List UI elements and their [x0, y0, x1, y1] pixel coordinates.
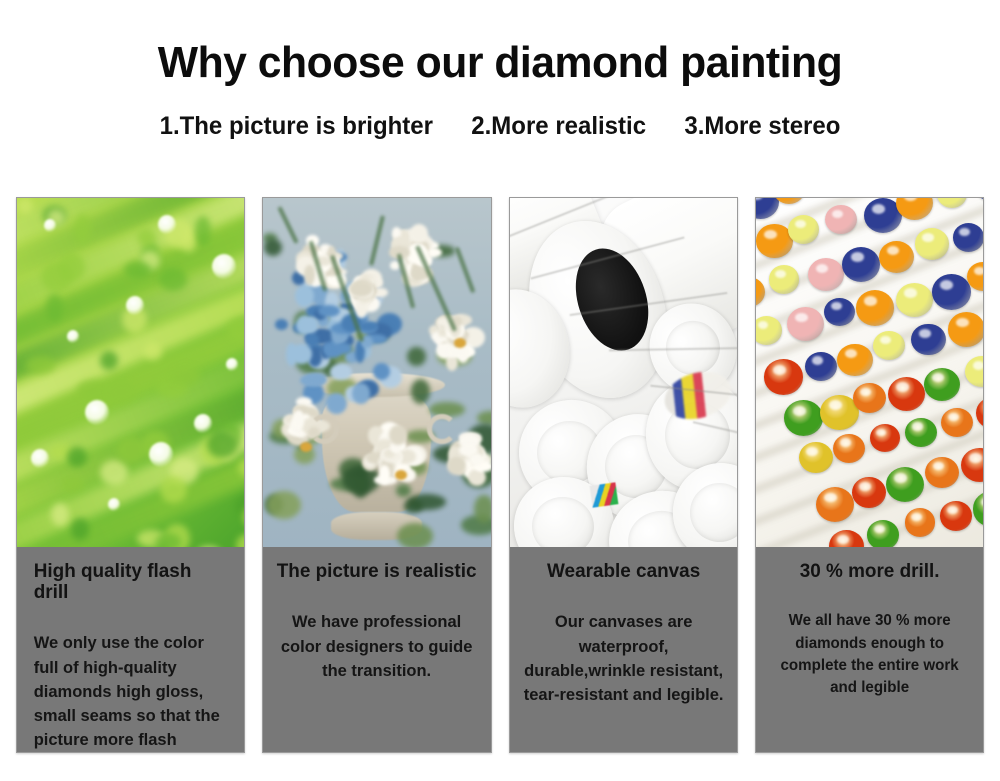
drill-bead [808, 258, 844, 291]
drill-bead [108, 380, 135, 404]
foliage-dab [474, 495, 490, 523]
panel-body: We only use the color full of high-quali… [25, 631, 230, 752]
drill-sparkle [44, 219, 56, 232]
feature-panel-more-drill: 30 % more drill. We all have 30 % more d… [755, 197, 984, 753]
blue-flower-dab [291, 344, 311, 364]
panel-body: Our canvases are waterproof, durable,wri… [521, 610, 726, 707]
drill-bead [756, 316, 783, 345]
drill-bead [172, 366, 200, 386]
cmyk-print-mark [590, 482, 619, 507]
panel-caption: High quality flash drill We only use the… [17, 547, 244, 753]
drill-bead [46, 294, 62, 322]
drill-bead [867, 520, 899, 547]
drill-bead [905, 418, 936, 447]
drill-bead [61, 476, 84, 494]
drill-bead [837, 344, 873, 377]
urn-scroll-handle [309, 414, 339, 444]
drill-bead [58, 253, 85, 282]
drill-bead [870, 424, 900, 452]
drill-bead [144, 343, 161, 360]
panel-title: Wearable canvas [521, 561, 726, 582]
white-flower-dab [389, 425, 407, 445]
drill-bead [769, 265, 800, 294]
panel-title: High quality flash drill [25, 561, 230, 604]
drill-bead [756, 198, 779, 219]
panel-body: We have professional color designers to … [274, 610, 479, 682]
foliage-dab [264, 239, 282, 256]
panel-title: The picture is realistic [274, 561, 479, 582]
drill-bead [879, 241, 914, 273]
foliage-dab [396, 484, 411, 498]
drill-bead [941, 408, 973, 437]
drill-bead [137, 229, 156, 247]
white-flower-dab [410, 224, 428, 243]
panel-caption: Wearable canvas Our canvases are waterpr… [510, 547, 737, 752]
page-title: Why choose our diamond painting [15, 38, 985, 88]
drill-bead [236, 533, 244, 547]
rolled-canvas-tubes-image [510, 198, 737, 547]
blue-flower-dab [295, 285, 314, 307]
foliage-dab [477, 411, 490, 425]
feature-item-3: 3.More stereo [684, 112, 840, 141]
drill-bead [888, 377, 926, 412]
white-flower-dab [459, 444, 477, 455]
stem [455, 247, 475, 293]
feature-panels: High quality flash drill We only use the… [16, 197, 984, 753]
foliage-dab [411, 379, 430, 404]
drill-bead [937, 198, 967, 208]
white-flower-dab [448, 347, 469, 357]
foliage-dab [407, 494, 446, 510]
drill-bead [853, 383, 885, 413]
white-flower-dab [349, 281, 372, 297]
panel-title: 30 % more drill. [767, 561, 972, 582]
drill-bead [207, 431, 238, 458]
drill-bead [833, 434, 865, 464]
drill-bead [67, 447, 87, 467]
green-flash-drills-closeup-image [17, 198, 244, 547]
drill-bead [911, 324, 945, 356]
panel-caption: The picture is realistic We have profess… [263, 547, 490, 752]
drill-bead [17, 198, 33, 214]
blue-flower-dab [275, 319, 288, 330]
foliage-dab [397, 523, 433, 547]
drill-sparkle [108, 498, 120, 511]
drill-bead [816, 487, 854, 522]
foliage-dab [267, 491, 301, 519]
drill-bead [764, 359, 802, 394]
drill-bead [896, 283, 933, 317]
daisy-center [300, 442, 312, 452]
feature-panel-quality: High quality flash drill We only use the… [16, 197, 245, 753]
drill-bead [160, 476, 187, 502]
white-flower-dab [304, 265, 315, 285]
stem [369, 215, 385, 266]
drill-bead [196, 546, 221, 547]
panel-body: We all have 30 % more diamonds enough to… [767, 610, 972, 699]
drill-bead [71, 518, 89, 541]
drill-bead [842, 247, 880, 282]
foliage-dab [407, 347, 426, 366]
product-feature-banner: Why choose our diamond painting 1.The pi… [0, 0, 1000, 781]
blue-flower-dab [305, 317, 317, 333]
floral-painting-vase-image [263, 198, 490, 547]
drill-bead [852, 477, 885, 508]
drill-bead [924, 368, 960, 401]
drill-bead [940, 501, 972, 530]
drill-bead [953, 223, 983, 252]
drill-bead [756, 224, 792, 257]
drill-bead [873, 331, 905, 360]
drill-bead [51, 503, 69, 526]
drill-bead [784, 400, 823, 436]
drill-sparkle [149, 442, 173, 467]
feature-item-2: 2.More realistic [471, 112, 646, 141]
drill-bead [948, 312, 983, 346]
feature-panel-realistic: The picture is realistic We have profess… [262, 197, 491, 753]
drill-bead [974, 198, 983, 201]
white-flower-dab [447, 456, 466, 474]
feature-item-1: 1.The picture is brighter [160, 112, 433, 141]
drill-sparkle [31, 449, 49, 468]
white-flower-dab [379, 465, 390, 484]
drill-bead [159, 268, 188, 290]
blue-flower-dab [360, 322, 378, 332]
drill-bead [26, 356, 54, 374]
drill-bead [155, 533, 181, 546]
drill-bead [905, 508, 936, 536]
blue-flower-dab [300, 375, 324, 386]
blue-flower-dab [330, 364, 352, 380]
drill-bead [799, 442, 833, 473]
drill-bead [74, 214, 90, 244]
stem [277, 206, 298, 244]
drill-bead [932, 274, 971, 310]
drill-bead [829, 530, 864, 547]
feature-panel-canvas: Wearable canvas Our canvases are waterpr… [509, 197, 738, 753]
drill-bead [805, 352, 837, 382]
drill-bead [195, 216, 212, 246]
drill-bead [100, 351, 118, 370]
urn-scroll-handle [427, 414, 457, 444]
colored-round-drills-closeup-image [756, 198, 983, 547]
daisy-center [454, 338, 466, 348]
panel-caption: 30 % more drill. We all have 30 % more d… [756, 547, 983, 752]
blue-flower-dab [352, 383, 370, 404]
drill-sparkle [126, 296, 144, 315]
feature-list: 1.The picture is brighter 2.More realist… [20, 112, 980, 141]
drill-bead [856, 290, 894, 325]
drill-bead [915, 228, 949, 260]
